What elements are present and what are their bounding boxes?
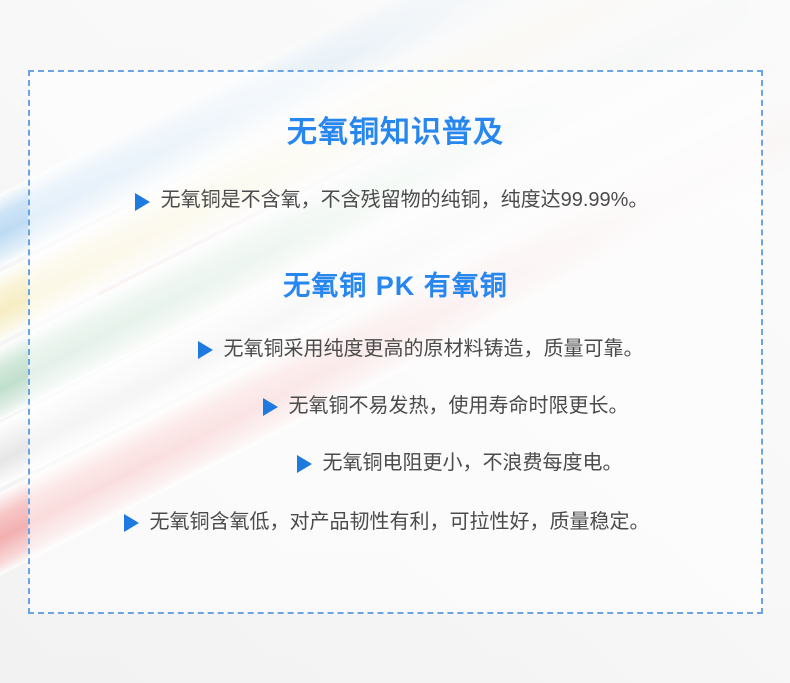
- list-item-label: 无氧铜不易发热，使用寿命时限更长。: [289, 393, 629, 420]
- list-item-label: 无氧铜采用纯度更高的原材料铸造，质量可靠。: [224, 336, 644, 363]
- list-item: 无氧铜不易发热，使用寿命时限更长。: [263, 393, 629, 420]
- triangle-right-icon: [124, 514, 139, 532]
- list-item: 无氧铜含氧低，对产品韧性有利，可拉性好，质量稳定。: [124, 509, 650, 536]
- triangle-right-icon: [135, 193, 150, 211]
- list-item-label: 无氧铜含氧低，对产品韧性有利，可拉性好，质量稳定。: [150, 509, 650, 536]
- list-item: 无氧铜是不含氧，不含残留物的纯铜，纯度达99.99%。: [135, 187, 649, 214]
- card-content: 无氧铜知识普及 无氧铜是不含氧，不含残留物的纯铜，纯度达99.99%。 无氧铜 …: [28, 70, 763, 614]
- list-item-label: 无氧铜是不含氧，不含残留物的纯铜，纯度达99.99%。: [161, 187, 649, 214]
- triangle-right-icon: [198, 341, 213, 359]
- triangle-right-icon: [297, 455, 312, 473]
- list-item: 无氧铜采用纯度更高的原材料铸造，质量可靠。: [198, 336, 644, 363]
- list-item: 无氧铜电阻更小，不浪费每度电。: [297, 450, 623, 477]
- page-title: 无氧铜知识普及: [287, 116, 504, 149]
- list-item-label: 无氧铜电阻更小，不浪费每度电。: [323, 450, 623, 477]
- page-canvas: 无氧铜知识普及 无氧铜是不含氧，不含残留物的纯铜，纯度达99.99%。 无氧铜 …: [0, 0, 790, 683]
- triangle-right-icon: [263, 398, 278, 416]
- section-subtitle: 无氧铜 PK 有氧铜: [283, 272, 508, 302]
